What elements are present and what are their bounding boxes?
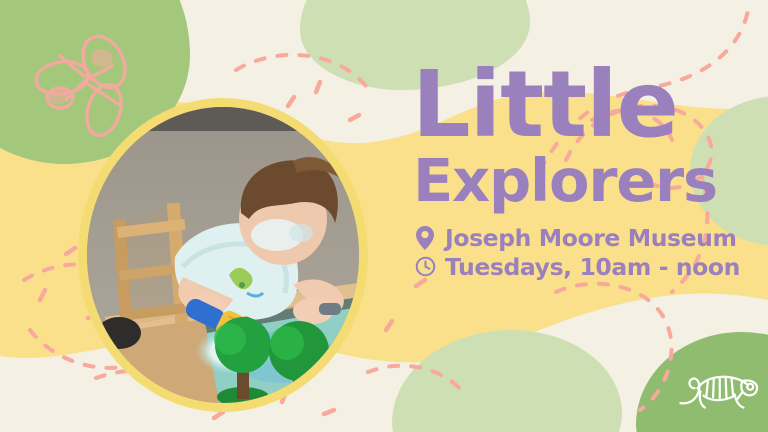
photo-illustration	[87, 107, 359, 403]
venue-label: Joseph Moore Museum	[445, 224, 737, 252]
page-title-line-2: Explorers	[413, 151, 758, 210]
photo-ring	[78, 98, 368, 412]
schedule-label: Tuesdays, 10am - noon	[445, 253, 740, 281]
child-playing-photo	[87, 107, 359, 403]
page-title-line-1: Little	[412, 64, 758, 147]
detail-row-time: Tuesdays, 10am - noon	[414, 253, 758, 281]
butterfly-doodle	[34, 29, 133, 139]
location-pin-icon	[414, 225, 436, 251]
event-poster: Little Explorers Joseph Moore Museum	[0, 0, 768, 432]
text-block: Little Explorers Joseph Moore Museum	[412, 64, 758, 282]
fossil-skeleton-logo	[678, 366, 760, 412]
clock-icon	[414, 254, 436, 280]
detail-list: Joseph Moore Museum Tuesdays, 10am - noo…	[414, 224, 758, 281]
detail-row-location: Joseph Moore Museum	[414, 224, 758, 252]
